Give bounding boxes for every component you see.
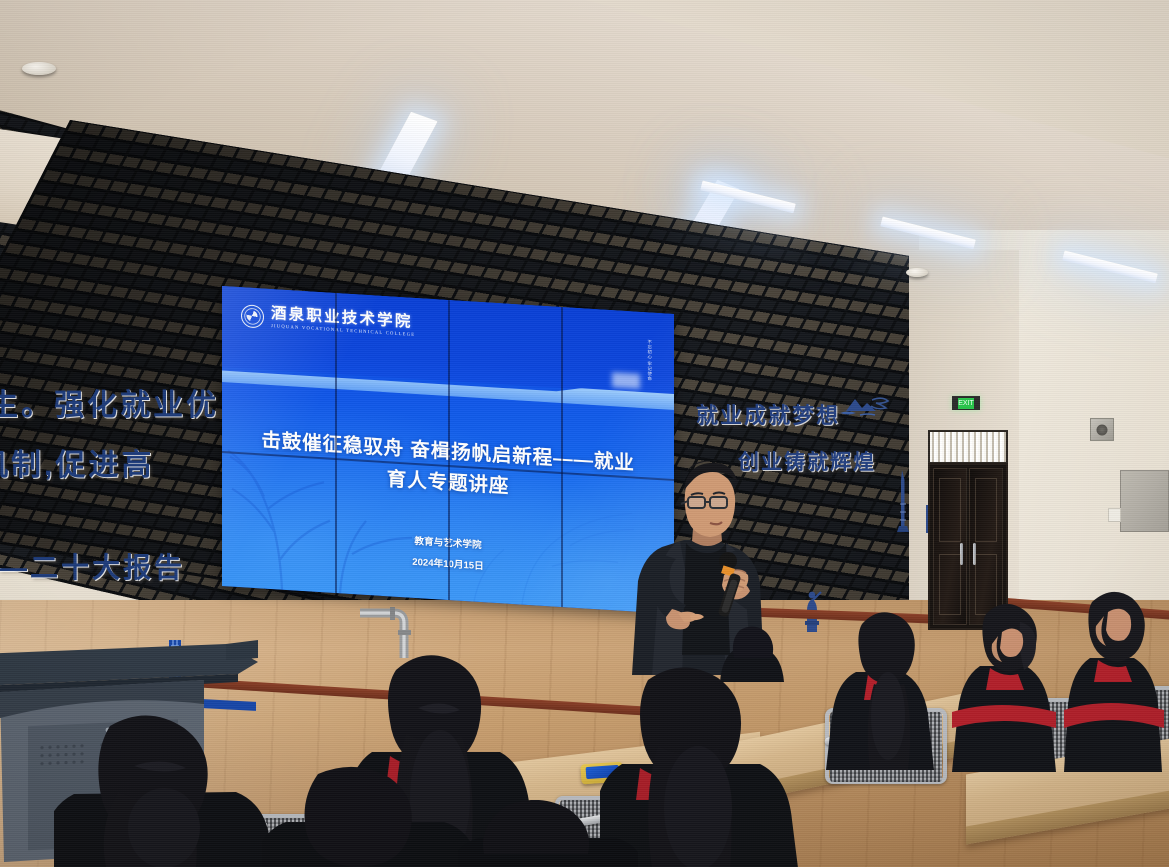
audience-member — [262, 766, 472, 867]
exit-sign: EXIT — [952, 396, 980, 410]
slide-vertical-calligraphy: 不忘初心 牢记使命 — [645, 339, 653, 392]
led-video-wall[interactable]: 酒泉职业技术学院 JIUQUAN VOCATIONAL TECHNICAL CO… — [222, 286, 674, 614]
left-wall-line-2: 机制,促进高 — [0, 440, 209, 484]
audience-member — [458, 800, 638, 867]
audience-member — [946, 592, 1066, 772]
control-panel-icon[interactable] — [1120, 470, 1169, 532]
mountain-cloud-icon — [838, 394, 898, 420]
left-wall-line-3: ——二十大报告 — [0, 546, 209, 586]
college-seal-icon — [241, 304, 264, 328]
smoke-detector-icon — [906, 268, 928, 277]
exit-sign-label: EXIT — [958, 398, 974, 409]
door-transom-glass — [928, 430, 1008, 464]
wall-speaker-icon — [1090, 418, 1114, 441]
audience-member — [54, 712, 274, 867]
lecture-hall-photo: 生。强化就业优 机制,促进高 ——二十大报告 — [0, 0, 1169, 867]
audience-member — [816, 600, 946, 770]
slide-blurred-patch — [612, 372, 640, 389]
smoke-detector-icon — [22, 62, 56, 75]
door-handle-icon[interactable] — [973, 543, 976, 565]
door-handle-icon[interactable] — [960, 543, 963, 565]
light-switch-icon[interactable] — [1108, 508, 1121, 522]
audience-member — [1062, 582, 1169, 772]
left-wall-slogan: 生。强化就业优 机制,促进高 ——二十大报告 — [0, 380, 209, 586]
left-wall-line-1: 生。强化就业优 — [0, 380, 209, 424]
rocket-icon — [895, 470, 911, 532]
